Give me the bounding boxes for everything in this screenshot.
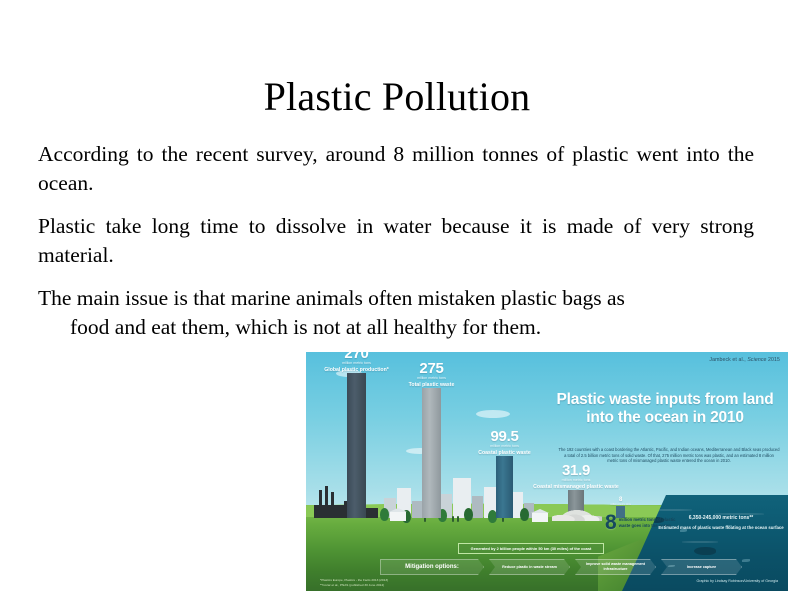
infographic-canvas: Jambeck et al., Science 2015 Plastic was… bbox=[306, 352, 788, 591]
bar-coastal-mismanaged-plastic-waste: 31.9 million metric tons Coastal mismana… bbox=[568, 490, 584, 518]
infographic-image: Jambeck et al., Science 2015 Plastic was… bbox=[306, 352, 788, 591]
ocean-surface-value: 6,350-245,000 metric tons** bbox=[658, 515, 784, 522]
fish-icon bbox=[742, 559, 750, 562]
page-title: Plastic Pollution bbox=[0, 73, 794, 121]
slide-body: According to the recent survey, around 8… bbox=[38, 140, 754, 342]
bar-label-group: 99.5 million metric tons Coastal plastic… bbox=[478, 429, 530, 456]
paragraph-1: According to the recent survey, around 8… bbox=[38, 140, 754, 198]
population-banner: Generated by 2 billion people within 50 … bbox=[458, 543, 604, 554]
mitigation-options-row: Mitigation options: Reduce plastic in wa… bbox=[380, 559, 742, 575]
infographic-footnotes: *Plastics Europe, Plastics - the Facts 2… bbox=[320, 578, 388, 587]
bar-rect bbox=[347, 373, 366, 518]
bar-label-group: 31.9 million metric tons Coastal mismana… bbox=[533, 463, 619, 490]
tree-icon bbox=[380, 508, 389, 521]
house-icon bbox=[532, 513, 548, 522]
wave-line bbox=[682, 541, 718, 543]
bar-label-group: 270 million metric tons Global plastic p… bbox=[324, 352, 389, 373]
bar-value: 275 bbox=[409, 361, 455, 376]
bar-value: 270 bbox=[324, 352, 389, 361]
cloud-icon bbox=[476, 410, 510, 418]
factory-silhouette bbox=[314, 490, 378, 518]
bar-global-plastic-production: 270 million metric tons Global plastic p… bbox=[347, 373, 366, 518]
bar-unit: million metric tons bbox=[409, 376, 455, 381]
ocean-surface-caption: Estimated mass of plastic waste floating… bbox=[658, 525, 784, 531]
footnote-1: *Plastics Europe, Plastics - the Facts 2… bbox=[320, 578, 388, 582]
mitigation-option-reduce: Reduce plastic in waste stream bbox=[489, 559, 570, 575]
graphic-credit: Graphic by Lindsay Robinson/University o… bbox=[697, 579, 779, 584]
bar-rect bbox=[496, 456, 513, 518]
bar-unit: million metric tons bbox=[478, 444, 530, 449]
tree-icon bbox=[520, 508, 529, 521]
paragraph-3-line-2: food and eat them, which is not at all h… bbox=[38, 313, 754, 342]
paragraph-3-line-1: The main issue is that marine animals of… bbox=[38, 286, 625, 310]
whale-icon bbox=[694, 547, 716, 555]
bar-coastal-plastic-waste: 99.5 million metric tons Coastal plastic… bbox=[496, 456, 513, 518]
bar-value: 31.9 bbox=[533, 463, 619, 478]
infographic-description: The 192 countries with a coast bordering… bbox=[558, 447, 780, 464]
mitigation-option-improve: Improve solid waste management infrastru… bbox=[575, 559, 656, 575]
bar-unit: million metric tons bbox=[533, 478, 619, 483]
person-icon bbox=[457, 516, 459, 522]
bar-total-plastic-waste: 275 million metric tons Total plastic wa… bbox=[422, 388, 441, 518]
waste-pile-icon bbox=[552, 505, 602, 521]
mitigation-label: Mitigation options: bbox=[380, 559, 484, 575]
person-icon bbox=[452, 516, 454, 522]
bar-value: 99.5 bbox=[478, 429, 530, 444]
mitigation-option-capture: Increase capture bbox=[661, 559, 742, 575]
bar-rect bbox=[422, 388, 441, 518]
ocean-surface-note: 6,350-245,000 metric tons** Estimated ma… bbox=[658, 515, 784, 531]
tree-icon bbox=[464, 508, 473, 521]
source-credit-year: 2015 bbox=[767, 357, 780, 363]
bar-unit: million metric tons bbox=[324, 361, 389, 366]
bar-label-group: 275 million metric tons Total plastic wa… bbox=[409, 361, 455, 388]
source-credit: Jambeck et al., Science 2015 bbox=[709, 357, 780, 363]
paragraph-2: Plastic take long time to dissolve in wa… bbox=[38, 212, 754, 270]
source-credit-author: Jambeck et al., bbox=[709, 357, 747, 363]
source-credit-journal: Science bbox=[747, 357, 766, 363]
paragraph-3: The main issue is that marine animals of… bbox=[38, 284, 754, 342]
bar-label-group: 8 million metric tons bbox=[610, 497, 631, 506]
footnote-2: **Cozar et al., PNAS (published 30 June … bbox=[320, 583, 388, 587]
infographic-headline: Plastic waste inputs from land into the … bbox=[549, 391, 781, 426]
house-icon bbox=[390, 512, 406, 521]
callout-value: 8 bbox=[605, 512, 617, 533]
